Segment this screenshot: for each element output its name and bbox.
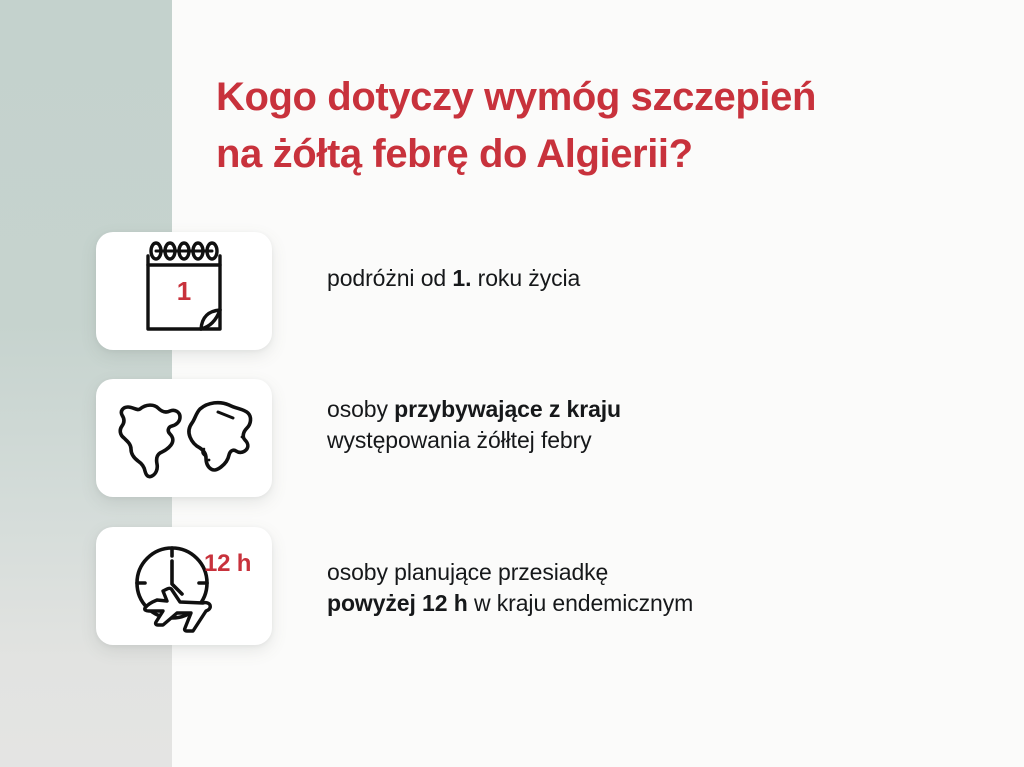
info-text-travellers-age: podróżni od 1. roku życia [327,263,947,294]
info-text-line: osoby przybywające z kraju [327,394,947,425]
info-row-travellers-age: 1 podróżni od 1. roku życia [0,232,1024,352]
info-row-transit-duration: 12 h osoby planujące przesiadkę powyżej … [0,527,1024,647]
page-title-line-1: Kogo dotyczy wymóg szczepień [216,69,976,126]
icon-card-calendar: 1 [96,232,272,350]
icon-card-clock-airplane: 12 h [96,527,272,645]
page-title: Kogo dotyczy wymóg szczepień na żółtą fe… [216,69,976,183]
text-segment: podróżni od [327,265,452,291]
info-text-endemic-country: osoby przybywające z kraju występowania … [327,394,947,457]
text-segment: w kraju endemicznym [468,590,694,616]
text-segment-bold: 1. [452,265,471,291]
text-segment-bold: przybywające z kraju [394,396,621,422]
airplane-icon [145,588,211,631]
continents-icon [120,403,250,477]
clock-duration-badge: 12 h [204,550,251,578]
page-title-line-2: na żółtą febrę do Algierii? [216,126,976,183]
calendar-day-number: 1 [177,276,191,306]
info-row-endemic-country: osoby przybywające z kraju występowania … [0,379,1024,499]
text-segment: osoby [327,396,394,422]
info-text-line: powyżej 12 h w kraju endemicznym [327,588,947,619]
info-text-line: podróżni od 1. roku życia [327,263,947,294]
text-segment: roku życia [471,265,580,291]
info-text-line: osoby planujące przesiadkę [327,557,947,588]
icon-card-continents [96,379,272,497]
info-text-transit-duration: osoby planujące przesiadkę powyżej 12 h … [327,557,947,620]
text-segment-bold: powyżej 12 h [327,590,468,616]
info-text-line: występowania żółłtej febry [327,425,947,456]
